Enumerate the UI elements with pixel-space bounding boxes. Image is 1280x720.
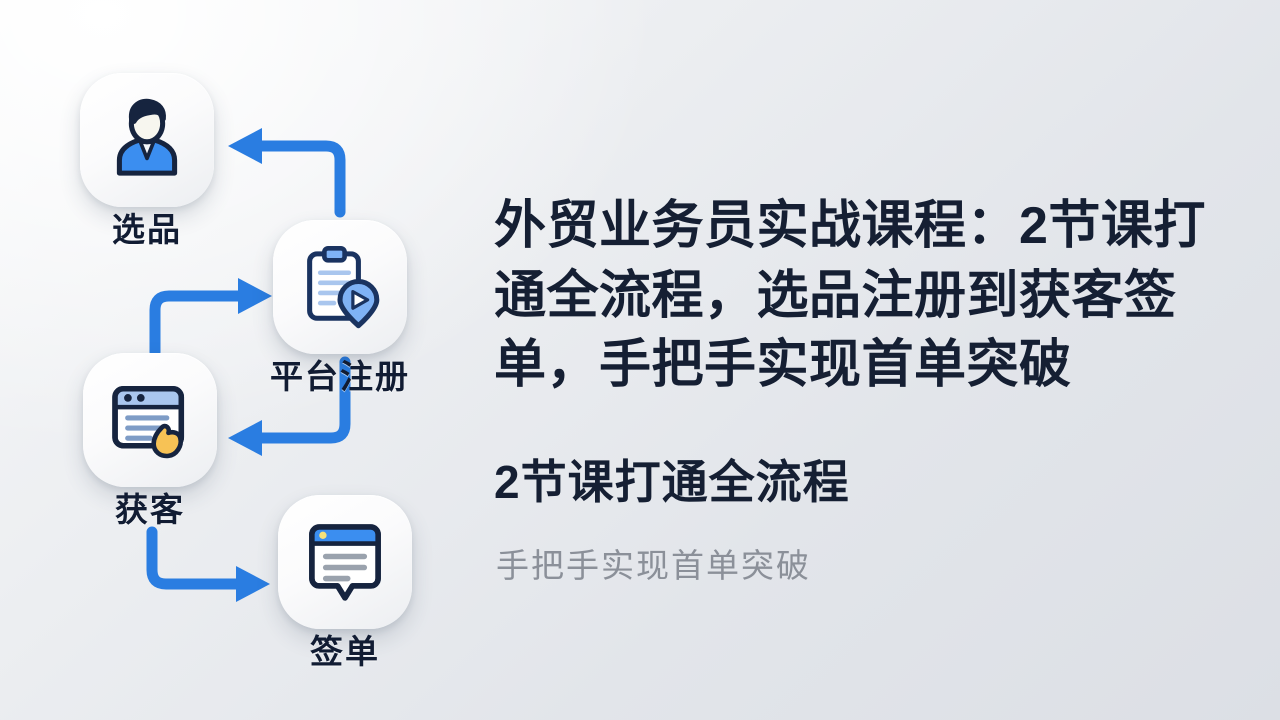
flow-diagram-panel: .aline { fill:none; stroke:#2a7de1; stro… xyxy=(0,0,470,720)
browser-hand-icon xyxy=(104,374,196,466)
course-subtext: 手把手实现首单突破 xyxy=(496,545,1256,586)
flow-node-qiandan-tile xyxy=(278,495,412,629)
course-headline: 外贸业务员实战课程：2节课打通全流程，选品注册到获客签单，手把手实现首单突破 xyxy=(494,192,1254,401)
flow-node-qiandan-label: 签单 xyxy=(235,634,455,670)
flow-node-xuanpin-label: 选品 xyxy=(37,212,257,248)
flow-node-zhuce-label: 平台注册 xyxy=(230,359,450,395)
flow-node-huoke-tile xyxy=(83,353,217,487)
text-panel: 外贸业务员实战课程：2节课打通全流程，选品注册到获客签单，手把手实现首单突破 2… xyxy=(494,0,1280,720)
arrow-zhuce-to-xuanpin xyxy=(228,128,340,212)
arrow-huoke-to-qiandan xyxy=(152,532,270,602)
flow-node-huoke-label: 获客 xyxy=(40,492,260,528)
arrow-huoke-to-zhuce xyxy=(155,278,272,352)
person-icon xyxy=(101,94,193,186)
clipboard-location-icon xyxy=(294,241,386,333)
speech-document-icon xyxy=(299,516,391,608)
flow-node-xuanpin-tile xyxy=(80,73,214,207)
course-subhead: 2节课打通全流程 xyxy=(494,455,1254,510)
flow-node-zhuce-tile xyxy=(273,220,407,354)
